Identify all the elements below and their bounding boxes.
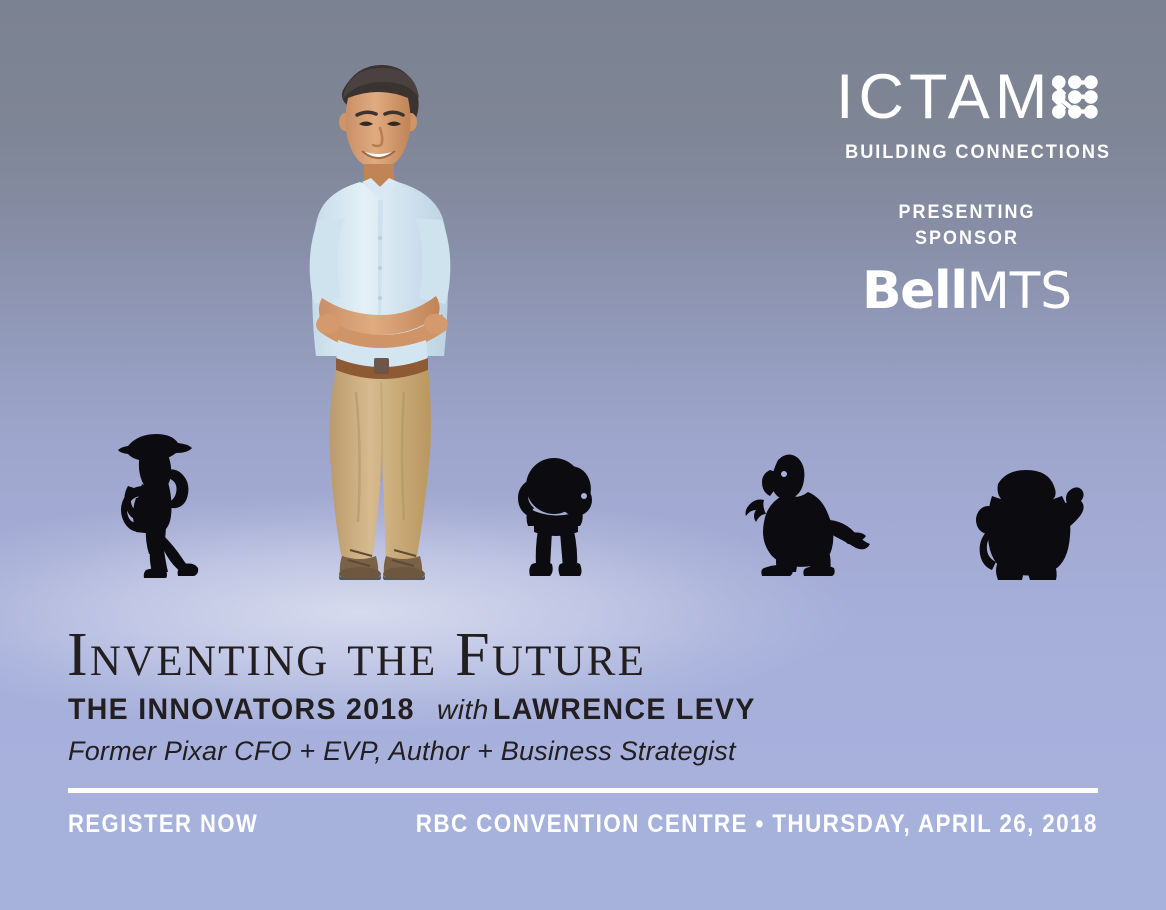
venue-and-date: RBC CONVENTION CENTRE • THURSDAY, APRIL … bbox=[416, 810, 1098, 839]
potato-character-silhouette bbox=[972, 462, 1084, 580]
speaker-photo bbox=[286, 52, 476, 580]
cowboy-silhouette-shape bbox=[100, 424, 210, 580]
ictam-logo-row: ICTAM bbox=[836, 62, 1098, 132]
series-label: THE INNOVATORS 2018 bbox=[68, 695, 415, 725]
spaceman-silhouette-shape bbox=[512, 452, 600, 580]
presenting-sponsor: PRESENTING SPONSOR BellMTS bbox=[836, 200, 1098, 317]
bell-wordmark: Bell bbox=[862, 261, 967, 321]
event-poster: ICTAM bbox=[0, 0, 1166, 910]
ictam-logo: ICTAM bbox=[836, 62, 1098, 164]
speaker-name: LAWRENCE LEVY bbox=[493, 695, 756, 725]
ictam-tagline: BUILDING CONNECTIONS bbox=[845, 141, 1089, 164]
sponsor-label-line1: PRESENTING bbox=[846, 200, 1087, 226]
bellmts-logo: BellMTS bbox=[836, 265, 1098, 317]
potato-character-silhouette-shape bbox=[972, 462, 1084, 580]
dinosaur-silhouette-shape bbox=[734, 448, 870, 580]
event-series-line: THE INNOVATORS 2018withLAWRENCE LEVY bbox=[68, 695, 769, 725]
sponsor-label-line2: SPONSOR bbox=[846, 226, 1087, 252]
connected-dots-grid-icon bbox=[1052, 62, 1098, 132]
cowboy-silhouette bbox=[100, 424, 210, 580]
ictam-wordmark: ICTAM bbox=[836, 66, 1052, 129]
divider bbox=[68, 788, 1098, 793]
register-now-cta[interactable]: REGISTER NOW bbox=[68, 810, 258, 839]
dinosaur-silhouette bbox=[734, 448, 870, 580]
smiling-man-arms-crossed-illustration bbox=[286, 52, 476, 580]
footer-bar: REGISTER NOW RBC CONVENTION CENTRE • THU… bbox=[68, 810, 1098, 844]
connector-label: with bbox=[433, 694, 493, 725]
spaceman-silhouette bbox=[512, 452, 600, 580]
speaker-title: Former Pixar CFO + EVP, Author + Busines… bbox=[68, 738, 736, 765]
mts-wordmark: MTS bbox=[967, 262, 1072, 320]
page-title: Inventing the Future bbox=[67, 624, 646, 686]
